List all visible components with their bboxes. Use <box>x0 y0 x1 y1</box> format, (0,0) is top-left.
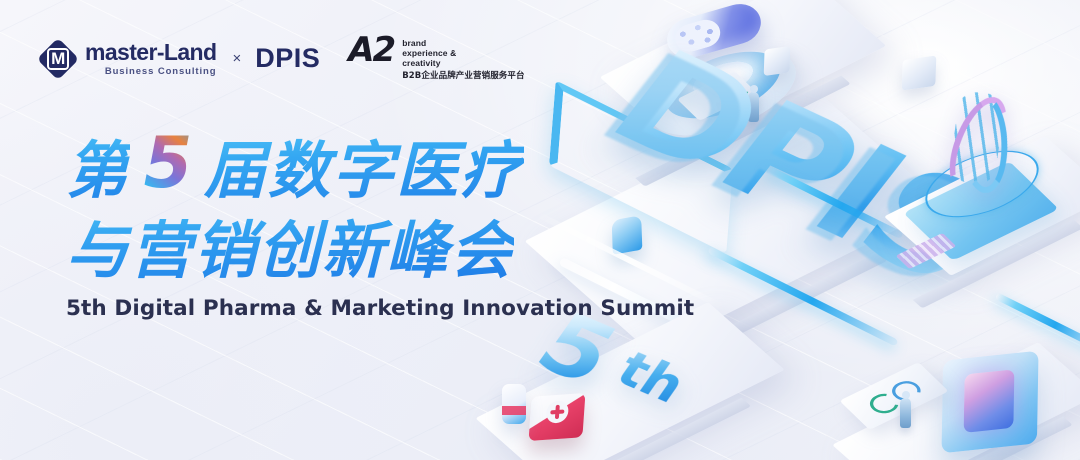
event-banner: DPIS 5 th <box>0 0 1080 460</box>
masterland-logo[interactable]: M master-Land Business Consulting <box>38 39 216 79</box>
a2-logo[interactable]: A2 brand experience & creativity B2B企业品牌… <box>348 36 524 81</box>
medicine-bottle <box>502 384 526 424</box>
a2-chinese-strapline: B2B企业品牌产业营销服务平台 <box>402 71 524 81</box>
floating-cube-2 <box>902 55 937 90</box>
masterland-diamond-icon: M <box>38 39 78 79</box>
headline-suffix: 届数字医疗 <box>204 120 524 210</box>
first-aid-kit <box>529 393 586 441</box>
dpis-logo[interactable]: DPIS <box>255 43 320 74</box>
lab-device <box>941 351 1038 454</box>
headline-subtitle-en: 5th Digital Pharma & Marketing Innovatio… <box>66 296 694 321</box>
headline-line-2: 与营销创新峰会 <box>66 208 694 282</box>
headline-block: 第 5 届数字医疗 与营销创新峰会 5th Digital Pharma & M… <box>66 128 694 321</box>
headline-line-2-text: 与营销创新峰会 <box>66 200 514 290</box>
standing-figure-2 <box>900 398 911 428</box>
edition-number-graphic: 5 <box>136 130 202 200</box>
a2-line-3: creativity <box>402 58 524 68</box>
masterland-tagline: Business Consulting <box>85 67 216 77</box>
a2-line-1: brand <box>402 38 524 48</box>
a2-line-2: experience & <box>402 48 524 58</box>
logo-row: M master-Land Business Consulting × DPIS… <box>38 36 525 81</box>
a2-mark: A2 <box>348 36 394 65</box>
masterland-name: master-Land <box>85 41 216 64</box>
headline-line-1: 第 5 届数字医疗 <box>66 128 694 202</box>
dna-helix-icon <box>948 89 1006 187</box>
headline-prefix: 第 <box>66 120 130 210</box>
logo-separator-icon: × <box>232 50 241 67</box>
masterland-mark-letter: M <box>51 50 65 67</box>
